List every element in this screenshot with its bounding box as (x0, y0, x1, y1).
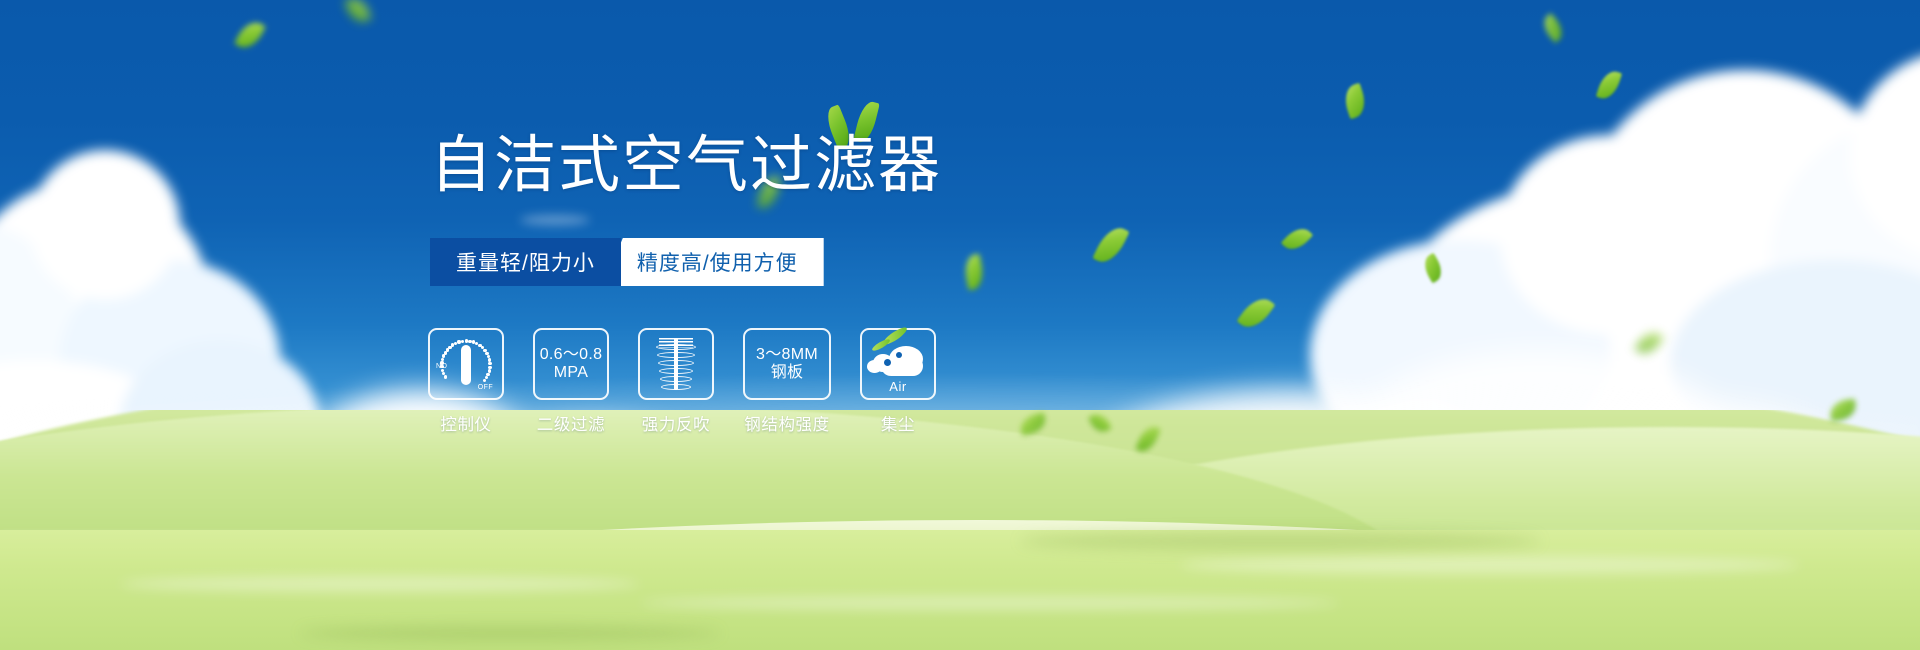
feature-steel-strength-label: 钢结构强度 (744, 411, 830, 435)
pressure-value-line2: MPA (554, 364, 588, 382)
tag-lightweight-lowresistance: 重量轻/阻力小 (430, 238, 621, 286)
gauge-label-off: OFF (478, 384, 493, 391)
grass-streak-3 (1180, 556, 1800, 574)
pressure-value-line1: 0.6～0.8 (540, 346, 603, 364)
feature-two-stage-filter-label: 二级过滤 (537, 411, 605, 435)
banner-content: 自洁式空气过滤器 重量轻/阻力小 精度高/使用方便 NOOFF 控制仪 0.6～… (430, 0, 1150, 650)
gauge-label-no: NO (436, 363, 447, 370)
feature-dust-collection-box: Air (860, 328, 936, 400)
tag-precision-easyuse: 精度高/使用方便 (603, 238, 824, 286)
page-title: 自洁式空气过滤器 (430, 135, 942, 197)
feature-icon-list: NOOFF 控制仪 0.6～0.8 MPA 二级过滤 强力反吹 (428, 328, 936, 435)
feature-tag-strip: 重量轻/阻力小 精度高/使用方便 (430, 238, 824, 286)
air-label: Air (867, 379, 929, 394)
blowback-discs-icon (649, 336, 703, 392)
feature-dust-collection: Air 集尘 (860, 328, 936, 435)
gauge-icon: NOOFF (437, 336, 495, 392)
feature-controller-box: NOOFF (428, 328, 504, 400)
feature-two-stage-filter-box: 0.6～0.8 MPA (533, 328, 609, 400)
feature-steel-strength-box: 3～8MM 钢板 (743, 328, 831, 400)
air-cloud-icon: Air (867, 338, 929, 390)
feature-dust-collection-label: 集尘 (881, 411, 915, 435)
feature-controller: NOOFF 控制仪 (428, 328, 504, 435)
feature-strong-blowback-label: 强力反吹 (642, 411, 710, 435)
feature-two-stage-filter: 0.6～0.8 MPA 二级过滤 (533, 328, 609, 435)
feature-strong-blowback-box (638, 328, 714, 400)
feature-steel-strength: 3～8MM 钢板 钢结构强度 (743, 328, 831, 435)
steel-value-line1: 3～8MM (756, 346, 818, 364)
feature-strong-blowback: 强力反吹 (638, 328, 714, 435)
feature-controller-label: 控制仪 (440, 411, 491, 435)
hero-banner: 自洁式空气过滤器 重量轻/阻力小 精度高/使用方便 NOOFF 控制仪 0.6～… (0, 0, 1920, 650)
steel-value-line2: 钢板 (771, 364, 804, 382)
